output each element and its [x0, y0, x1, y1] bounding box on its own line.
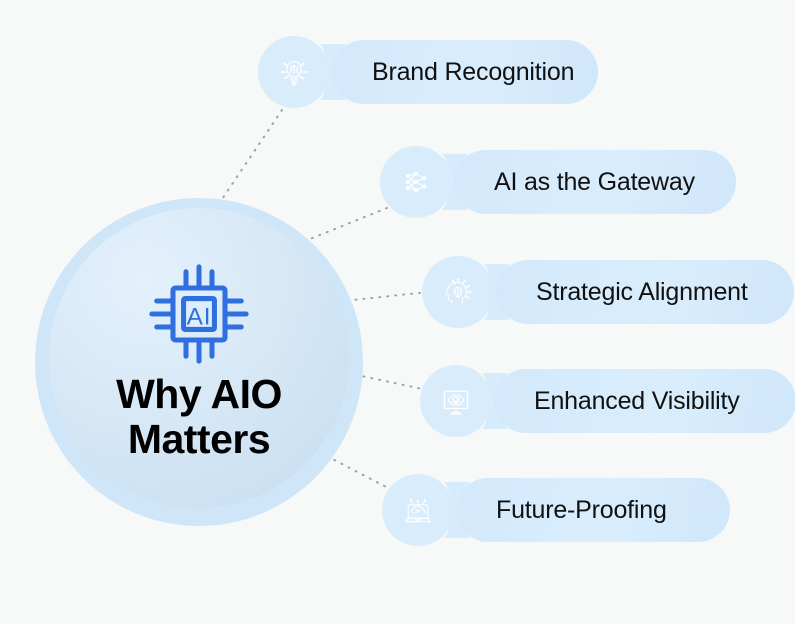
branch-label-enhanced-visibility: Enhanced Visibility: [534, 387, 740, 416]
branch-label-future-proofing: Future-Proofing: [496, 496, 667, 525]
hub-content: AI Why AIO Matters: [35, 198, 363, 526]
central-hub: AI Why AIO Matters: [35, 198, 363, 526]
pill-enhanced-visibility[interactable]: Enhanced Visibility: [494, 369, 795, 433]
neural-network-icon: [398, 164, 434, 200]
branch-label-brand-recognition: Brand Recognition: [372, 58, 574, 87]
node-circle-brand-recognition[interactable]: [264, 42, 324, 102]
node-circle-ai-as-the-gateway[interactable]: [386, 152, 446, 212]
branch-label-ai-as-the-gateway: AI as the Gateway: [494, 168, 695, 197]
branch-item-ai-as-the-gateway[interactable]: AI as the Gateway: [386, 146, 736, 218]
head-ai-brain-icon: [440, 274, 476, 310]
hub-title-line-1: Why AIO: [116, 372, 282, 417]
pill-brand-recognition[interactable]: Brand Recognition: [332, 40, 598, 104]
node-circle-enhanced-visibility[interactable]: [426, 371, 486, 431]
lightbulb-brain-icon: [276, 54, 312, 90]
branch-item-brand-recognition[interactable]: Brand Recognition: [264, 36, 598, 108]
branch-item-strategic-alignment[interactable]: Strategic Alignment: [428, 256, 794, 328]
node-circle-strategic-alignment[interactable]: [428, 262, 488, 322]
pill-strategic-alignment[interactable]: Strategic Alignment: [496, 260, 794, 324]
pill-future-proofing[interactable]: Future-Proofing: [456, 478, 730, 542]
branch-item-future-proofing[interactable]: Future-Proofing: [388, 474, 730, 546]
hub-title-line-2: Matters: [116, 417, 282, 462]
node-circle-future-proofing[interactable]: [388, 480, 448, 540]
pill-ai-as-the-gateway[interactable]: AI as the Gateway: [454, 150, 736, 214]
branch-item-enhanced-visibility[interactable]: Enhanced Visibility: [426, 365, 795, 437]
svg-text:AI: AI: [187, 304, 212, 331]
aio-mindmap-infographic: AI Why AIO Matters: [0, 0, 795, 624]
monitor-eye-icon: [438, 383, 474, 419]
ai-chip-icon: AI: [147, 262, 251, 366]
laptop-cloud-ai-icon: [400, 492, 436, 528]
hub-title: Why AIO Matters: [116, 372, 282, 462]
branch-label-strategic-alignment: Strategic Alignment: [536, 278, 748, 307]
